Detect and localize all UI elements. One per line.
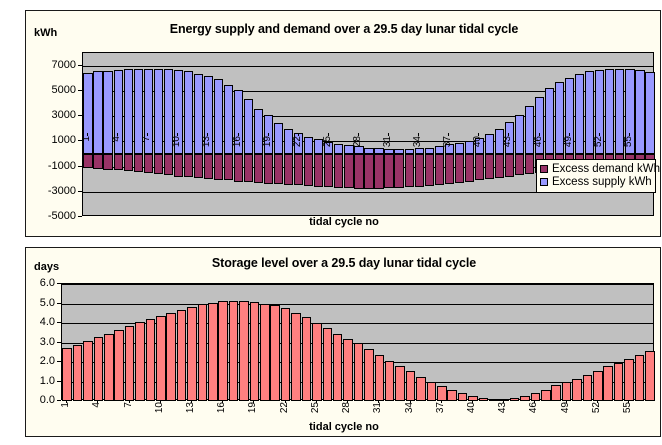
x-tick-mark [472,400,473,403]
bar-storage-level-days-55 [624,359,634,401]
x-tick-mark [478,133,479,136]
y-tick-mark [78,166,82,167]
bar-storage-level-days-36 [427,382,437,402]
bar-excess-supply-kwh-19 [264,115,273,153]
bar-excess-demand-kwh-4 [114,154,123,170]
bar-storage-level-days-17 [229,301,239,401]
x-tick-label: 22 [293,136,303,147]
x-tick-label: 46 [529,402,539,413]
bar-excess-supply-kwh-20 [274,123,283,154]
x-tick-label: 19 [263,136,273,147]
bar-storage-level-days-50 [572,379,582,401]
bar-excess-demand-kwh-1 [83,154,92,169]
bar-excess-demand-kwh-41 [485,154,494,179]
x-tick-label: 40 [467,402,477,413]
bar-excess-demand-kwh-10 [174,154,183,177]
bar-excess-demand-kwh-35 [425,154,434,186]
energy-legend: Excess demand kWhExcess supply kWh [536,159,656,193]
y-tick-mark [78,65,82,66]
x-tick-label: 4 [112,136,122,142]
x-tick-label: 7 [142,136,152,142]
bar-excess-demand-kwh-39 [465,154,474,182]
bar-storage-level-days-48 [551,385,561,401]
x-tick-mark [418,133,419,136]
x-tick-mark [503,400,504,403]
x-tick-label: 52 [592,402,602,413]
y-tick-mark [57,342,61,343]
bar-storage-level-days-29 [354,343,364,401]
bar-excess-supply-kwh-11 [184,71,193,154]
bar-excess-demand-kwh-38 [455,154,464,183]
bar-storage-level-days-15 [208,303,218,401]
y-tick-label: 3000 [26,109,76,121]
y-tick-label: 4.0 [26,316,55,328]
bar-excess-supply-kwh-44 [515,115,524,154]
y-tick-mark [78,191,82,192]
bar-storage-level-days-47 [541,390,551,401]
bar-storage-level-days-18 [239,301,249,401]
bar-excess-supply-kwh-41 [485,134,494,154]
bar-storage-level-days-52 [593,371,603,401]
bar-storage-level-days-14 [198,304,208,401]
x-tick-label: 10 [155,402,165,413]
bar-storage-level-days-27 [333,334,343,401]
legend-label: Excess demand kWh [552,163,660,175]
bar-storage-level-days-8 [135,322,145,401]
x-tick-mark [347,400,348,403]
storage-chart-panel: days Storage level over a 29.5 day lunar… [25,247,661,437]
bar-excess-supply-kwh-14 [214,79,223,153]
y-tick-label: 1000 [26,134,76,146]
x-tick-label: 40 [473,136,483,147]
y-tick-label: 5000 [26,84,76,96]
bar-storage-level-days-33 [395,366,405,401]
bar-excess-demand-kwh-40 [475,154,484,180]
storage-chart-title: Storage level over a 29.5 day lunar tida… [26,256,662,270]
x-tick-label: 25 [323,136,333,147]
bar-storage-level-days-7 [125,326,135,401]
bar-storage-level-days-10 [156,316,166,401]
bar-excess-demand-kwh-13 [204,154,213,179]
x-tick-mark [508,133,509,136]
x-tick-label: 28 [353,136,363,147]
energy-chart-panel: kWh Energy supply and demand over a 29.5… [25,10,661,237]
x-tick-label: 31 [373,402,383,413]
bar-excess-supply-kwh-8 [154,69,163,154]
x-tick-label: 31 [383,136,393,147]
y-tick-mark [78,90,82,91]
x-tick-mark [285,400,286,403]
bar-excess-demand-kwh-21 [284,154,293,185]
x-tick-mark [160,400,161,403]
screenshot-root: kWh Energy supply and demand over a 29.5… [0,0,662,445]
bar-storage-level-days-38 [447,390,457,401]
bar-excess-demand-kwh-28 [354,154,363,189]
bar-excess-demand-kwh-30 [374,154,383,189]
x-tick-mark [566,400,567,403]
x-tick-mark [629,133,630,136]
bar-excess-supply-kwh-56 [635,70,644,154]
bar-storage-level-days-11 [166,313,176,401]
bar-excess-demand-kwh-42 [495,154,504,178]
bar-excess-demand-kwh-26 [334,154,343,188]
x-tick-mark [191,400,192,403]
bar-excess-supply-kwh-57 [645,72,654,154]
x-tick-mark [222,400,223,403]
bar-storage-level-days-54 [614,363,624,401]
bar-storage-level-days-6 [114,330,124,401]
x-tick-mark [628,400,629,403]
bar-storage-level-days-56 [635,355,645,401]
bar-storage-level-days-35 [416,377,426,401]
legend-item: Excess demand kWh [540,163,652,175]
x-tick-mark [358,133,359,136]
x-tick-mark [569,133,570,136]
bar-excess-demand-kwh-45 [525,154,534,174]
y-tick-mark [57,303,61,304]
x-tick-label: 10 [172,136,182,147]
bar-storage-level-days-32 [385,361,395,401]
bar-excess-supply-kwh-38 [455,143,464,154]
x-tick-label: 16 [217,402,227,413]
x-tick-mark [599,133,600,136]
x-tick-mark [298,133,299,136]
bar-excess-demand-kwh-12 [194,154,203,178]
x-tick-mark [328,133,329,136]
bar-excess-supply-kwh-28 [354,146,363,154]
bar-excess-demand-kwh-37 [445,154,454,184]
bar-excess-supply-kwh-1 [83,73,92,154]
bar-storage-level-days-5 [104,334,114,401]
y-tick-label: 0.0 [26,394,55,406]
legend-swatch-icon [540,165,548,173]
x-tick-label: 34 [413,136,423,147]
bar-storage-level-days-44 [510,398,520,401]
bar-storage-level-days-45 [520,396,530,401]
bar-excess-demand-kwh-44 [515,154,524,175]
bar-storage-level-days-2 [73,345,83,401]
bar-excess-demand-kwh-14 [214,154,223,180]
bar-storage-level-days-13 [187,307,197,401]
bar-storage-level-days-9 [146,319,156,401]
y-tick-mark [57,381,61,382]
x-tick-label: 46 [534,136,544,147]
bar-excess-demand-kwh-29 [364,154,373,189]
bar-storage-level-days-31 [375,355,385,401]
x-tick-mark [316,400,317,403]
bar-storage-level-days-53 [603,366,613,401]
energy-chart-title: Energy supply and demand over a 29.5 day… [26,22,662,36]
bar-storage-level-days-24 [302,317,312,401]
bar-excess-demand-kwh-25 [324,154,333,187]
bar-storage-level-days-39 [458,393,468,401]
x-tick-mark [448,133,449,136]
x-tick-mark [410,400,411,403]
legend-swatch-icon [540,178,548,186]
y-tick-label: 1.0 [26,375,55,387]
x-tick-mark [441,400,442,403]
bar-excess-demand-kwh-32 [394,154,403,188]
bar-excess-demand-kwh-11 [184,154,193,177]
bar-excess-demand-kwh-22 [294,154,303,186]
bar-excess-supply-kwh-36 [435,146,444,154]
y-tick-mark [57,283,61,284]
x-tick-label: 28 [342,402,352,413]
bar-storage-level-days-43 [499,399,509,401]
bar-excess-demand-kwh-6 [134,154,143,172]
x-tick-mark [378,400,379,403]
y-tick-label: 5.0 [26,297,55,309]
x-tick-label: 16 [233,136,243,147]
x-tick-mark [177,133,178,136]
bar-storage-level-days-26 [323,328,333,401]
x-tick-mark [534,400,535,403]
x-tick-label: 43 [503,136,513,147]
x-tick-mark [97,400,98,403]
bar-excess-demand-kwh-2 [93,154,102,169]
x-tick-mark [207,133,208,136]
y-tick-mark [57,361,61,362]
y-tick-mark [78,115,82,116]
bar-excess-demand-kwh-33 [405,154,414,187]
x-tick-mark [253,400,254,403]
x-tick-label: 19 [248,402,258,413]
bar-storage-level-days-23 [291,313,301,401]
bar-excess-demand-kwh-27 [344,154,353,188]
bar-excess-supply-kwh-17 [244,99,253,154]
bar-storage-level-days-37 [437,386,447,401]
x-tick-label: 49 [561,402,571,413]
x-tick-mark [66,400,67,403]
bar-storage-level-days-19 [250,302,260,401]
x-tick-label: 49 [564,136,574,147]
bar-storage-level-days-42 [489,399,499,401]
bar-storage-level-days-34 [406,371,416,401]
x-tick-label: 25 [311,402,321,413]
bar-excess-supply-kwh-5 [124,69,133,154]
bar-storage-level-days-21 [270,305,280,401]
x-tick-label: 37 [443,136,453,147]
y-tick-label: -1000 [26,160,76,172]
x-tick-label: 55 [624,136,634,147]
bar-storage-level-days-12 [177,310,187,401]
y-tick-label: 7000 [26,59,76,71]
y-tick-label: 3.0 [26,336,55,348]
x-tick-label: 13 [202,136,212,147]
bar-storage-level-days-51 [583,375,593,401]
x-tick-mark [597,400,598,403]
bar-excess-demand-kwh-5 [124,154,133,171]
x-tick-label: 22 [280,402,290,413]
legend-label: Excess supply kWh [552,176,652,188]
x-tick-mark [268,133,269,136]
bar-excess-demand-kwh-9 [164,154,173,175]
y-tick-label: -3000 [26,185,76,197]
bar-storage-level-days-20 [260,304,270,402]
bar-excess-supply-kwh-47 [545,88,554,154]
bar-excess-supply-kwh-53 [605,69,614,154]
bar-storage-level-days-1 [62,348,72,401]
x-tick-label: 55 [623,402,633,413]
bar-excess-supply-kwh-26 [334,144,343,154]
bar-storage-level-days-22 [281,308,291,401]
x-tick-mark [388,133,389,136]
bar-excess-demand-kwh-18 [254,154,263,183]
bar-storage-level-days-30 [364,349,374,401]
bar-excess-supply-kwh-50 [575,74,584,154]
x-tick-label: 34 [405,402,415,413]
bar-storage-level-days-16 [218,301,228,401]
bar-excess-demand-kwh-23 [304,154,313,186]
y-tick-label: 2.0 [26,355,55,367]
bar-excess-demand-kwh-36 [435,154,444,186]
x-tick-label: 37 [436,402,446,413]
bar-excess-demand-kwh-34 [415,154,424,187]
bar-storage-level-days-25 [312,323,322,401]
bar-storage-level-days-4 [94,337,104,401]
bar-excess-demand-kwh-43 [505,154,514,177]
storage-x-axis-label: tidal cycle no [26,421,662,433]
bar-excess-demand-kwh-24 [314,154,323,187]
y-tick-mark [57,322,61,323]
bar-excess-demand-kwh-7 [144,154,153,173]
bar-excess-demand-kwh-31 [384,154,393,188]
bar-storage-level-days-28 [343,339,353,401]
y-tick-label: 6.0 [26,277,55,289]
bar-storage-level-days-57 [645,351,655,401]
x-tick-mark [117,133,118,136]
x-tick-label: 52 [594,136,604,147]
x-tick-mark [238,133,239,136]
x-tick-label: 1 [82,136,92,142]
bar-excess-demand-kwh-20 [274,154,283,184]
x-tick-label: 13 [186,402,196,413]
bar-excess-supply-kwh-2 [93,71,102,154]
x-tick-mark [129,400,130,403]
bar-excess-demand-kwh-3 [103,154,112,170]
bar-excess-demand-kwh-15 [224,154,233,180]
bar-storage-level-days-49 [562,382,572,402]
bar-excess-demand-kwh-8 [154,154,163,174]
legend-item: Excess supply kWh [540,176,652,188]
x-tick-mark [87,133,88,136]
bar-storage-level-days-3 [83,341,93,401]
energy-x-axis-label: tidal cycle no [26,216,662,228]
bar-excess-demand-kwh-17 [244,154,253,182]
storage-bars-layer [62,284,653,399]
x-tick-label: 43 [498,402,508,413]
bar-storage-level-days-41 [479,398,489,401]
x-tick-mark [147,133,148,136]
bar-excess-demand-kwh-16 [234,154,243,182]
storage-plot-area [61,283,654,400]
bar-excess-supply-kwh-23 [304,137,313,154]
bar-excess-demand-kwh-19 [264,154,273,184]
x-tick-mark [539,133,540,136]
bar-excess-supply-kwh-18 [254,109,263,154]
